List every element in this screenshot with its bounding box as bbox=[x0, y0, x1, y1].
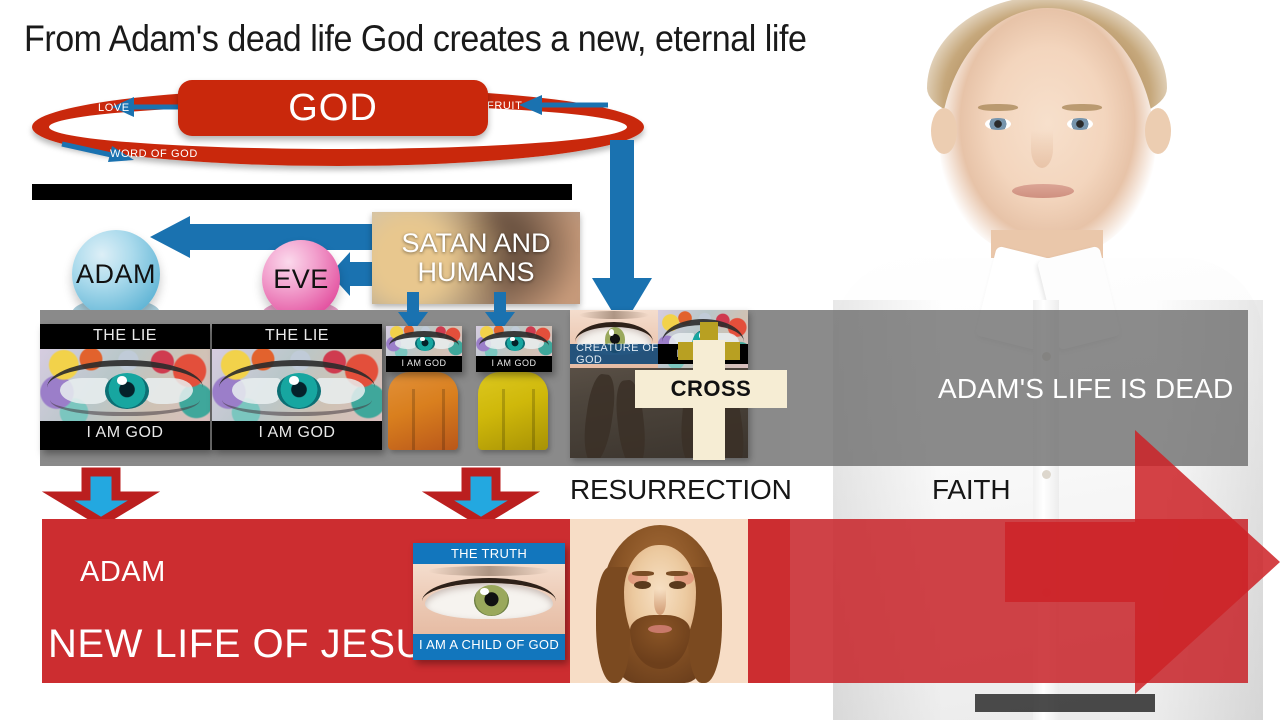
satan-box-line1: SATAN AND bbox=[401, 229, 550, 258]
small-card-2: I AM GOD bbox=[476, 326, 552, 372]
lie-card-2-header: THE LIE bbox=[212, 324, 382, 349]
jesus-brow-left bbox=[632, 571, 654, 576]
resurrection-label: RESURRECTION bbox=[570, 474, 792, 506]
small-card-1-footer: I AM GOD bbox=[386, 356, 462, 371]
ring-label-fruit: FRUIT bbox=[487, 100, 522, 112]
jesus-eye-right bbox=[669, 581, 686, 589]
ring-label-word-of-god: WORD OF GOD bbox=[110, 148, 198, 160]
photo-nose bbox=[1031, 130, 1053, 168]
faith-label: FAITH bbox=[932, 474, 1010, 506]
satan-and-humans-box: SATAN AND HUMANS bbox=[372, 212, 580, 304]
god-to-cross-down-arrow-icon bbox=[592, 140, 652, 328]
photo-belt bbox=[975, 694, 1155, 712]
jesus-nose bbox=[654, 589, 666, 615]
jesus-eye-left bbox=[634, 581, 651, 589]
photo-ear-right bbox=[1145, 108, 1171, 154]
photo-eye-left bbox=[985, 118, 1011, 130]
small-card-2-footer: I AM GOD bbox=[476, 356, 552, 371]
jesus-mouth bbox=[648, 625, 672, 633]
small-card-2-eye-image bbox=[476, 326, 552, 356]
truth-card-header: THE TRUTH bbox=[413, 543, 565, 564]
transition-arrow-2-icon bbox=[438, 472, 524, 522]
lie-card-2: THE LIE I AM GOD bbox=[212, 324, 382, 450]
god-box-label: GOD bbox=[288, 87, 378, 130]
transition-arrow-1-icon bbox=[58, 472, 144, 522]
faith-right-arrow-icon bbox=[1005, 430, 1280, 694]
jesus-portrait bbox=[570, 519, 748, 683]
truth-card: THE TRUTH I AM A CHILD OF GOD bbox=[413, 543, 565, 660]
photo-brow-right bbox=[1062, 104, 1102, 111]
figure-body-2 bbox=[478, 372, 548, 450]
truth-card-eye-image bbox=[413, 564, 565, 634]
adams-life-is-dead-label: ADAM'S LIFE IS DEAD bbox=[938, 373, 1233, 405]
page-title: From Adam's dead life God creates a new,… bbox=[24, 18, 806, 60]
cross-icon: CROSS bbox=[635, 340, 787, 460]
photo-mouth bbox=[1012, 184, 1074, 198]
eve-sphere-label: EVE bbox=[273, 264, 329, 295]
fruit-arrow-icon bbox=[516, 94, 612, 116]
truth-card-footer: I AM A CHILD OF GOD bbox=[413, 634, 565, 655]
figure-body-1 bbox=[388, 372, 458, 450]
red-bar-new-life-label: NEW LIFE OF JESUS bbox=[48, 622, 452, 667]
lie-card-1-eye-image bbox=[40, 349, 210, 421]
cross-label: CROSS bbox=[671, 376, 752, 402]
photo-eye-right bbox=[1067, 118, 1093, 130]
ring-label-love: LOVE bbox=[98, 102, 130, 114]
jesus-brow-right bbox=[666, 571, 688, 576]
lie-card-2-eye-image bbox=[212, 349, 382, 421]
lie-card-1-footer: I AM GOD bbox=[40, 421, 210, 446]
god-box: GOD bbox=[178, 80, 488, 136]
photo-ear-left bbox=[931, 108, 957, 154]
small-card-1: I AM GOD bbox=[386, 326, 462, 372]
eve-sphere: EVE bbox=[262, 240, 340, 318]
adam-sphere-label: ADAM bbox=[76, 259, 156, 290]
photo-brow-left bbox=[978, 104, 1018, 111]
black-divider-bar bbox=[32, 184, 572, 200]
adam-sphere: ADAM bbox=[72, 230, 160, 318]
red-bar-adam-label: ADAM bbox=[80, 556, 166, 589]
slide-canvas: From Adam's dead life God creates a new,… bbox=[0, 0, 1280, 720]
lie-card-1-header: THE LIE bbox=[40, 324, 210, 349]
lie-card-2-footer: I AM GOD bbox=[212, 421, 382, 446]
lie-card-1: THE LIE I AM GOD bbox=[40, 324, 210, 450]
satan-box-line2: HUMANS bbox=[417, 258, 534, 287]
small-card-1-eye-image bbox=[386, 326, 462, 356]
